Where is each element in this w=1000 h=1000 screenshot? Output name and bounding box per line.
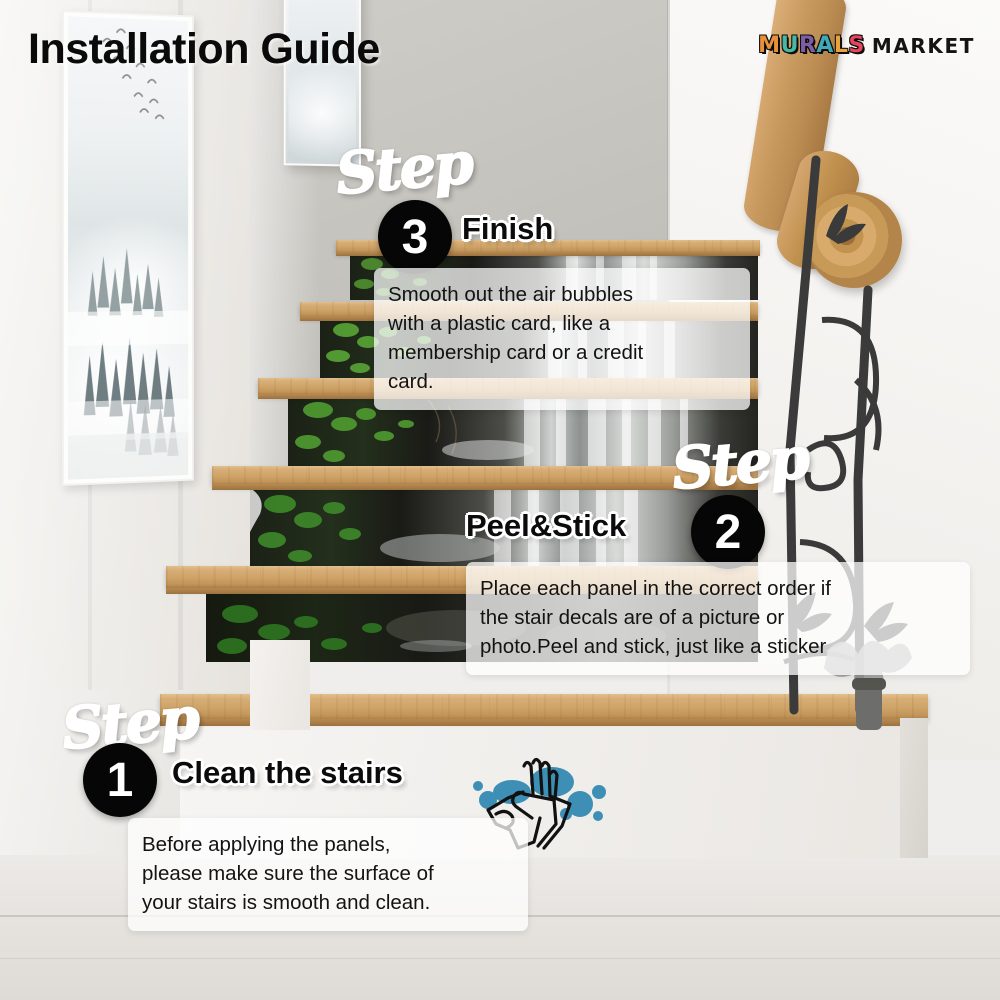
brand-logo[interactable]: M U R A L S MARKET xyxy=(758,34,975,58)
logo-letter-m: M xyxy=(758,35,780,57)
step-2-body: Place each panel in the correct order if… xyxy=(466,562,970,675)
step-3-heading: Finish xyxy=(462,211,553,247)
page-title: Installation Guide xyxy=(28,25,380,74)
step-1-body: Before applying the panels, please make … xyxy=(128,818,528,931)
step-1-body-line-1: Before applying the panels, xyxy=(142,830,514,859)
logo-letter-a: A xyxy=(816,35,834,57)
floor-seam-secondary xyxy=(0,958,1000,959)
step-1-body-line-2: please make sure the surface of xyxy=(142,859,514,888)
logo-letter-r: R xyxy=(799,35,816,57)
wall-art-canvas xyxy=(68,16,188,480)
step-3-body-line-1: Smooth out the air bubbles xyxy=(388,280,736,309)
step-2-badge: 2 xyxy=(691,495,765,569)
logo-letter-l: L xyxy=(834,35,849,57)
stair-tread-front-2 xyxy=(212,484,758,490)
logo-murals-text: M U R A L S xyxy=(758,35,865,57)
step-2-body-line-2: the stair decals are of a picture or xyxy=(480,603,956,632)
step-2-body-line-3: photo.Peel and stick, just like a sticke… xyxy=(480,632,956,661)
step-3-body: Smooth out the air bubbles with a plasti… xyxy=(374,268,750,410)
step-1-heading: Clean the stairs xyxy=(172,755,403,791)
step-1-body-line-3: your stairs is smooth and clean. xyxy=(142,888,514,917)
logo-market-text: MARKET xyxy=(872,34,975,58)
upper-landing-wall xyxy=(250,640,310,730)
step-1-badge: 1 xyxy=(83,743,157,817)
logo-letter-u: U xyxy=(781,35,799,57)
step-3-body-line-2: with a plastic card, like a xyxy=(388,309,736,338)
step-3-body-line-4: card. xyxy=(388,367,736,396)
wall-art-misty-forest xyxy=(62,10,194,486)
stair-tread-2 xyxy=(212,466,758,485)
step-3-badge: 3 xyxy=(378,200,452,274)
installation-guide-poster: Installation Guide M U R A L S MARKET St… xyxy=(0,0,1000,1000)
step-2-heading: Peel&Stick xyxy=(466,508,626,544)
step-3-body-line-3: membership card or a credit xyxy=(388,338,736,367)
logo-letter-s: S xyxy=(848,35,864,57)
step-2-body-line-1: Place each panel in the correct order if xyxy=(480,574,956,603)
